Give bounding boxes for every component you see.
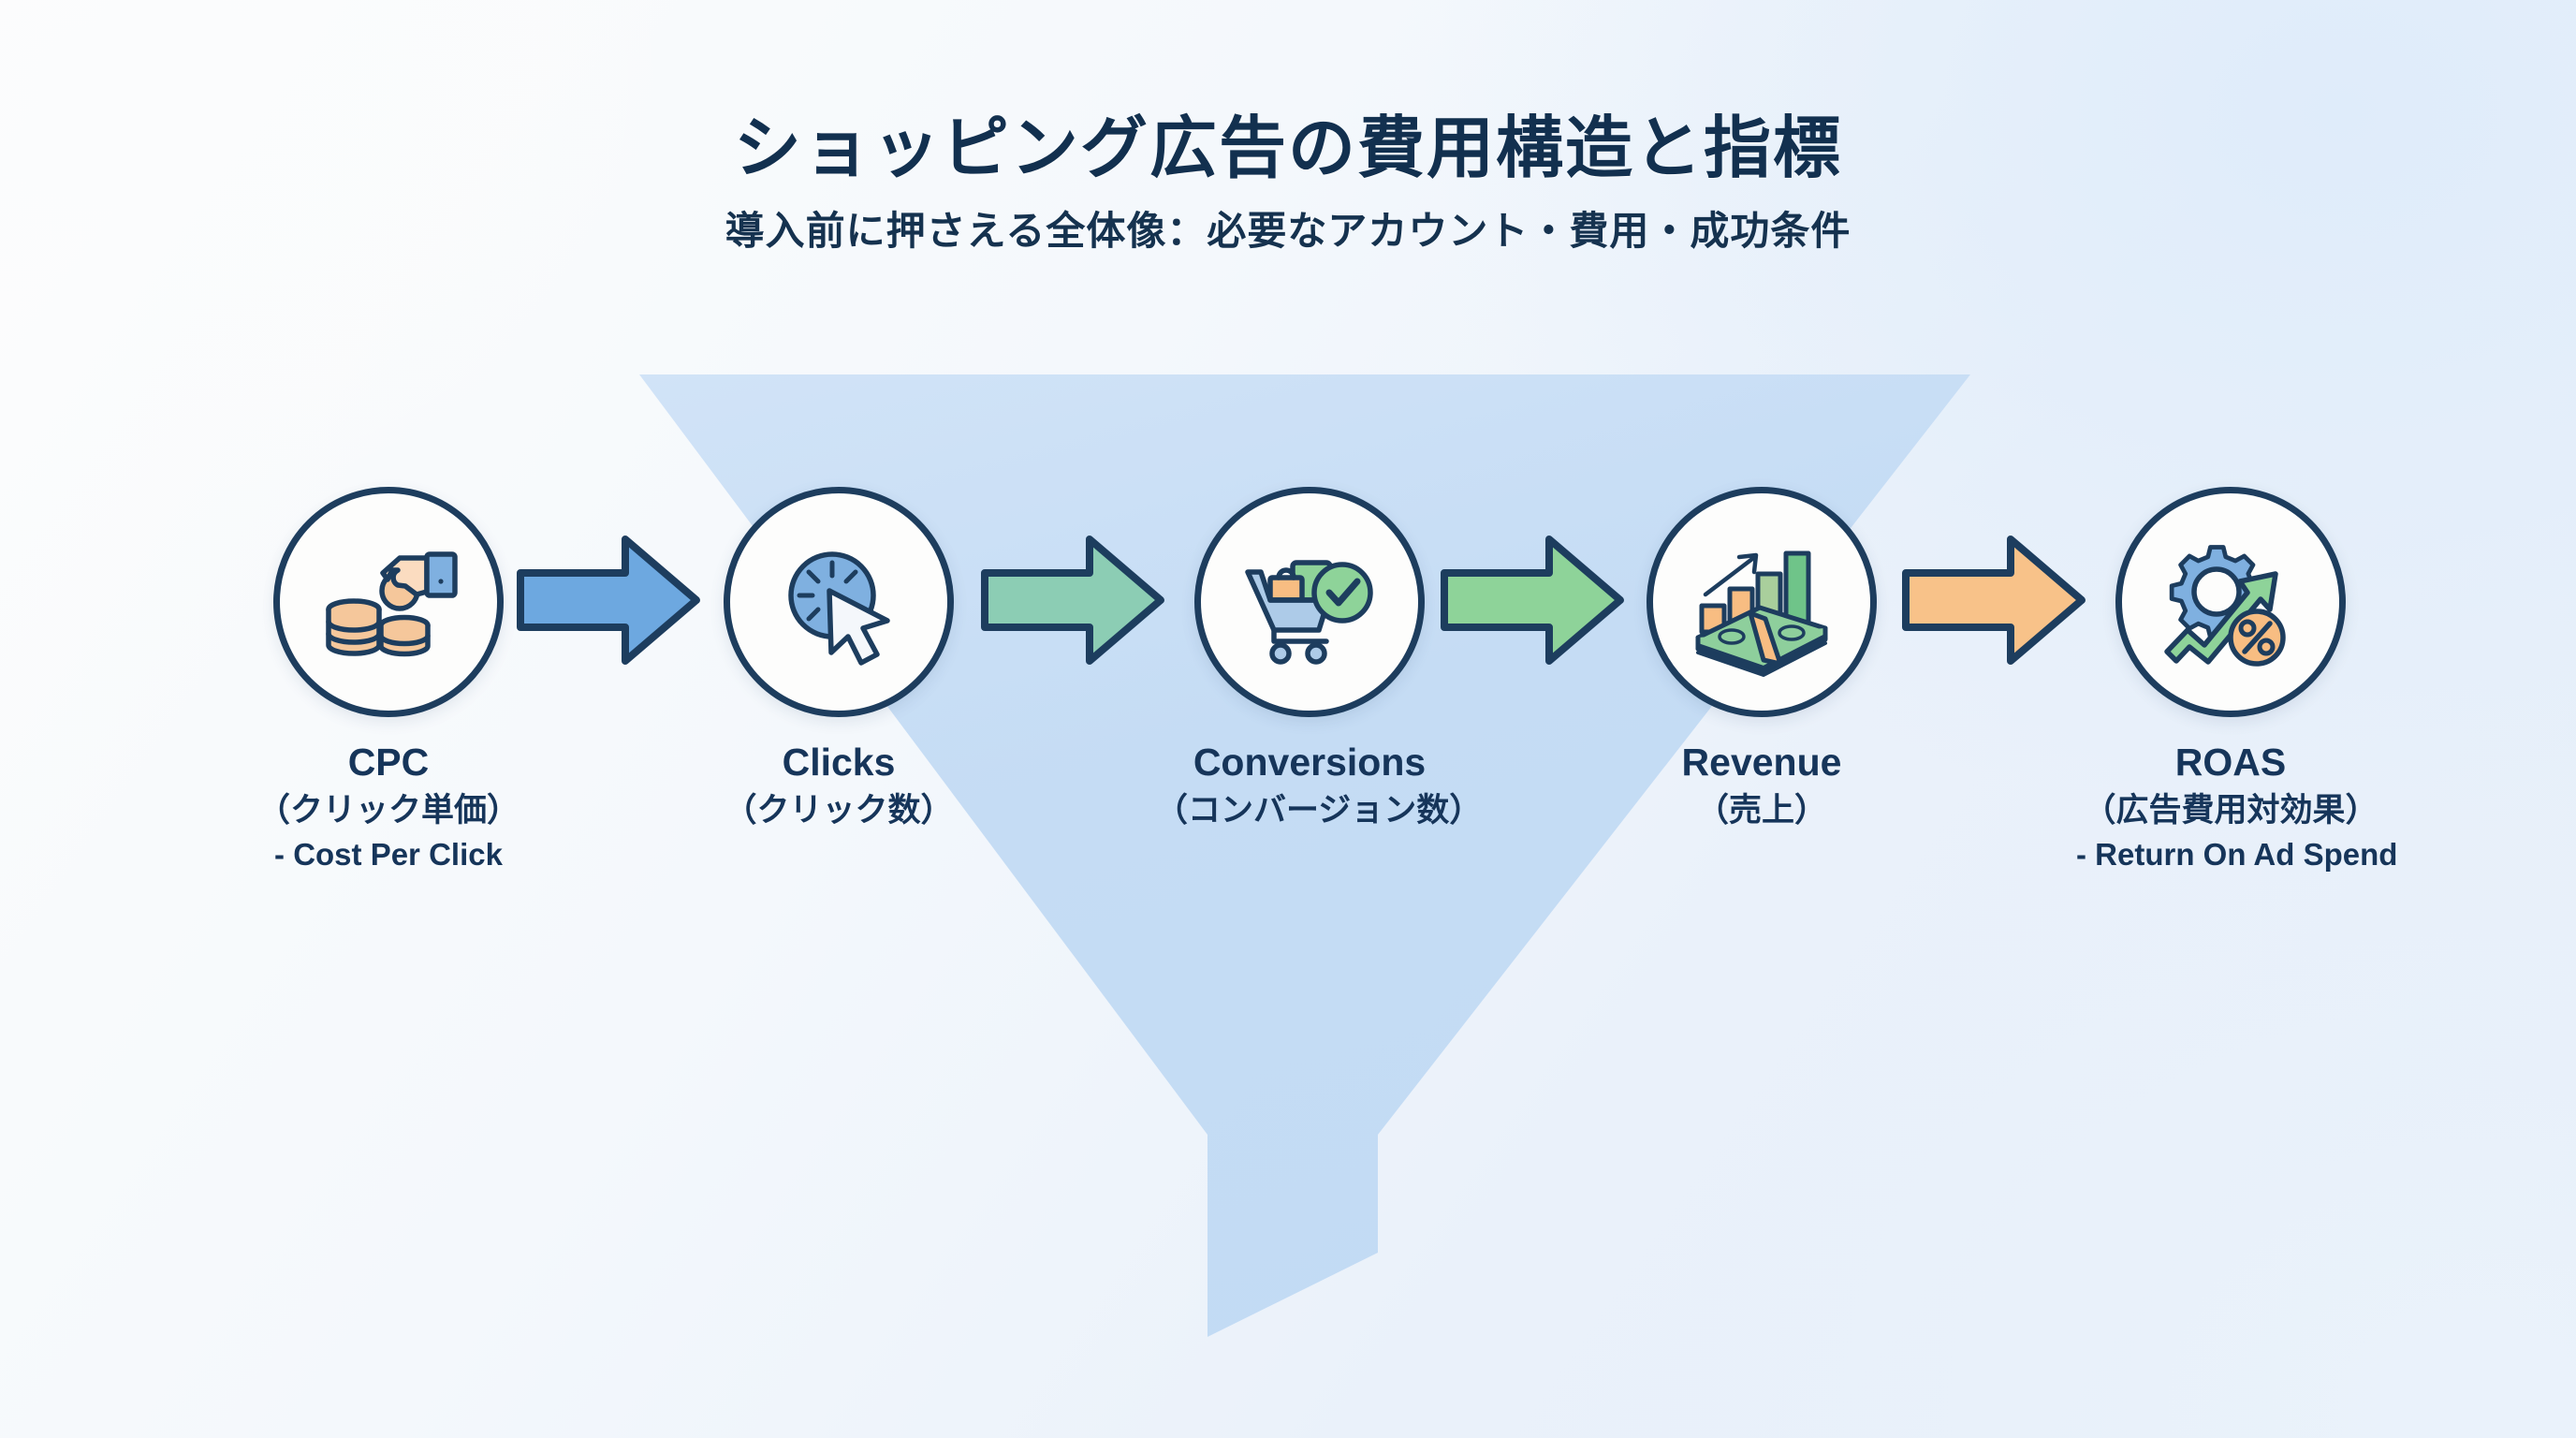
step-clicks-circle[interactable] bbox=[724, 487, 954, 717]
step-conversions-label-jp: （コンバージョン数） bbox=[1155, 790, 1464, 831]
step-cpc-label-full: - Cost Per Click bbox=[234, 835, 543, 873]
step-clicks-label-jp: （クリック数） bbox=[684, 790, 993, 831]
step-revenue-label-en: Revenue bbox=[1607, 741, 1916, 785]
step-revenue-label-jp: （売上） bbox=[1607, 790, 1916, 831]
flow-row: CPC （クリック単価） - Cost Per Click bbox=[0, 0, 2576, 1438]
flow-arrow-orange bbox=[1900, 530, 2087, 670]
step-cpc-label-en: CPC bbox=[234, 741, 543, 785]
shopping-cart-check-icon bbox=[1233, 525, 1386, 679]
step-cpc-circle[interactable] bbox=[273, 487, 504, 717]
flow-arrow-green bbox=[1439, 530, 1626, 670]
step-roas-label-en: ROAS bbox=[2076, 741, 2385, 785]
step-cpc[interactable]: CPC （クリック単価） - Cost Per Click bbox=[234, 487, 543, 873]
step-cpc-label-jp: （クリック単価） bbox=[234, 790, 543, 831]
hand-dropping-coin-icon bbox=[314, 527, 463, 677]
step-cpc-labels: CPC （クリック単価） - Cost Per Click bbox=[234, 741, 543, 873]
step-revenue[interactable]: Revenue （売上） bbox=[1607, 487, 1916, 831]
step-clicks-label-en: Clicks bbox=[684, 741, 993, 785]
step-conversions-labels: Conversions （コンバージョン数） bbox=[1155, 741, 1464, 831]
step-roas[interactable]: ROAS （広告費用対効果） - Return On Ad Spend bbox=[2076, 487, 2385, 873]
flow-arrow-blue bbox=[515, 530, 702, 670]
step-revenue-labels: Revenue （売上） bbox=[1607, 741, 1916, 831]
step-clicks-labels: Clicks （クリック数） bbox=[684, 741, 993, 831]
step-roas-label-full: - Return On Ad Spend bbox=[2076, 835, 2385, 873]
step-clicks[interactable]: Clicks （クリック数） bbox=[684, 487, 993, 831]
mouse-cursor-click-icon bbox=[764, 527, 914, 677]
step-revenue-circle[interactable] bbox=[1647, 487, 1877, 717]
step-conversions-label-en: Conversions bbox=[1155, 741, 1464, 785]
step-roas-labels: ROAS （広告費用対効果） - Return On Ad Spend bbox=[2076, 741, 2385, 873]
step-roas-label-jp: （広告費用対効果） bbox=[2076, 790, 2385, 831]
gear-growth-arrow-percent-icon bbox=[2156, 527, 2305, 677]
step-roas-circle[interactable] bbox=[2115, 487, 2346, 717]
money-stack-growth-chart-icon bbox=[1687, 527, 1837, 677]
step-conversions-circle[interactable] bbox=[1194, 487, 1425, 717]
step-conversions[interactable]: Conversions （コンバージョン数） bbox=[1155, 487, 1464, 831]
flow-arrow-teal bbox=[979, 530, 1166, 670]
infographic-canvas: ショッピング広告の費用構造と指標 導入前に押さえる全体像：必要なアカウント・費用… bbox=[0, 0, 2576, 1438]
